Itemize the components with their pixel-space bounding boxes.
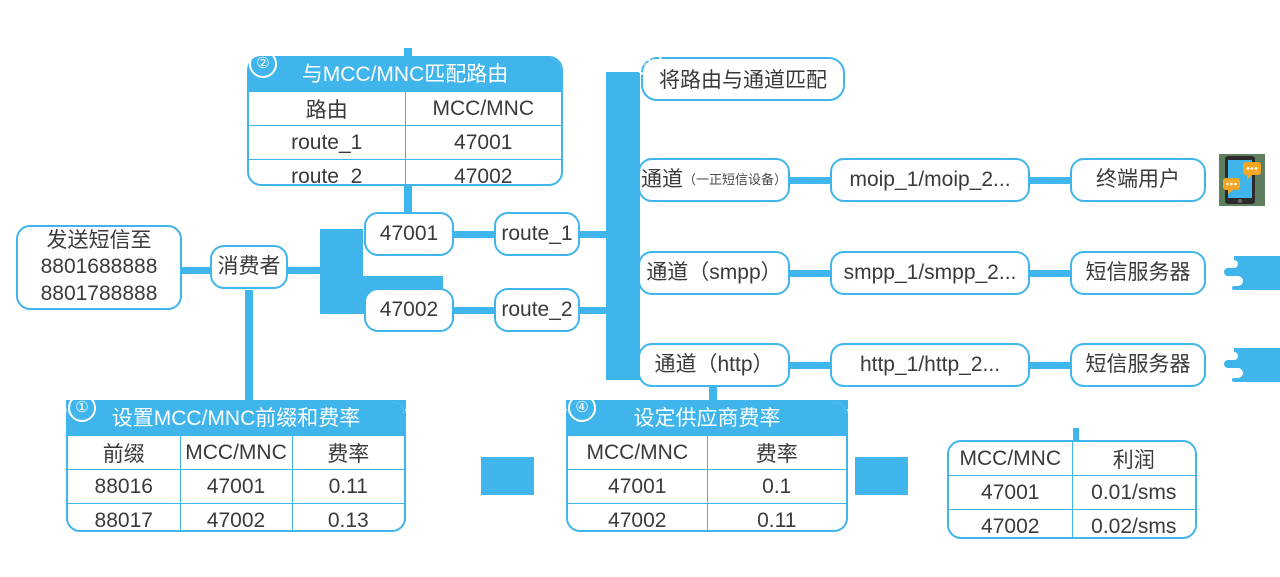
- endpoint-node-3[interactable]: 短信服务器: [1070, 343, 1206, 387]
- source-line-2: 8801688888: [41, 254, 158, 280]
- table-row-header: MCC/MNC 费率: [568, 436, 846, 470]
- source-line-1: 发送短信至: [47, 228, 152, 254]
- connector-47001-route1: [452, 231, 496, 238]
- mcc-node-47002[interactable]: 47002: [364, 288, 454, 332]
- step4-card-title: 设定供应商费率: [568, 402, 846, 436]
- consumer-label: 消费者: [218, 254, 281, 280]
- channel-node-1-label: 通道: [641, 167, 683, 193]
- provider-node-1-label: moip_1/moip_2...: [849, 167, 1010, 193]
- table-row: 88016 47001 0.11: [68, 470, 404, 504]
- endpoint-node-2-label: 短信服务器: [1086, 260, 1191, 286]
- step3-title-callout: 将路由与通道匹配: [641, 57, 845, 101]
- step-number-1: ①: [68, 394, 96, 422]
- channel-node-3-label: 通道（http）: [654, 352, 773, 378]
- route-node-route_2[interactable]: route_2: [494, 288, 580, 332]
- step4-card: 设定供应商费率 MCC/MNC 费率 47001 0.1 47002 0.11: [566, 400, 848, 532]
- table-row: 47001 0.01/sms: [949, 476, 1195, 510]
- source-node[interactable]: 发送短信至 8801688888 8801788888: [16, 225, 182, 310]
- step2-card: 与MCC/MNC匹配路由 路由 MCC/MNC route_1 47001 ro…: [247, 56, 563, 186]
- mcc-node-47002-label: 47002: [380, 297, 438, 323]
- diagram-canvas: 发送短信至 8801688888 8801788888 消费者 47001 47…: [0, 0, 1280, 577]
- step1-r1c2: 0.13: [292, 504, 404, 533]
- step4-header-1: 费率: [707, 436, 846, 470]
- flow-block-left: [481, 457, 534, 495]
- channel-node-2-label: 通道（smpp）: [646, 260, 781, 286]
- step4-r1c1: 0.11: [707, 504, 846, 533]
- step1-header-2: 费率: [292, 436, 404, 470]
- provider-node-2-label: smpp_1/smpp_2...: [844, 260, 1017, 286]
- source-line-3: 8801788888: [41, 281, 158, 307]
- connector-source-consumer: [180, 267, 214, 274]
- step2-r0c0: route_1: [249, 126, 405, 160]
- endpoint-node-1[interactable]: 终端用户: [1070, 158, 1206, 202]
- table-row: 47001 0.1: [568, 470, 846, 504]
- step-number-3: ③: [634, 48, 662, 76]
- channel-node-1-suffix: （一正短信设备）: [683, 172, 787, 188]
- endpoint-node-3-label: 短信服务器: [1086, 352, 1191, 378]
- route-node-route_1-label: route_1: [501, 221, 572, 247]
- channel-node-2[interactable]: 通道（smpp）: [638, 251, 790, 295]
- step2-r0c1: 47001: [405, 126, 561, 160]
- profit-table: MCC/MNC 利润 47001 0.01/sms 47002 0.02/sms: [949, 442, 1195, 539]
- route-node-route_2-label: route_2: [501, 297, 572, 323]
- step2-r1c0: route_2: [249, 160, 405, 187]
- profit-r0c0: 47001: [949, 476, 1072, 510]
- mcc-node-47001-label: 47001: [380, 221, 438, 247]
- step3-vertical-rail: [606, 72, 640, 380]
- step4-r0c1: 0.1: [707, 470, 846, 504]
- table-row: 88017 47002 0.13: [68, 504, 404, 533]
- connector-channel1-provider1: [790, 177, 832, 184]
- table-row-header: 前缀 MCC/MNC 费率: [68, 436, 404, 470]
- endpoint-node-1-label: 终端用户: [1096, 167, 1180, 193]
- phone-chat-icon: [1219, 154, 1265, 206]
- connector-provider3-endpoint3: [1028, 362, 1072, 369]
- step1-r0c1: 47001: [180, 470, 292, 504]
- step3-title: 将路由与通道匹配: [659, 64, 827, 94]
- table-row-header: 路由 MCC/MNC: [249, 92, 561, 126]
- profit-r1c1: 0.02/sms: [1072, 510, 1195, 540]
- step4-header-0: MCC/MNC: [568, 436, 707, 470]
- profit-card: MCC/MNC 利润 47001 0.01/sms 47002 0.02/sms: [947, 440, 1197, 539]
- mcc-node-47001[interactable]: 47001: [364, 212, 454, 256]
- step-number-2: ②: [249, 50, 277, 78]
- step1-r0c2: 0.11: [292, 470, 404, 504]
- table-row: route_2 47002: [249, 160, 561, 187]
- provider-node-1[interactable]: moip_1/moip_2...: [830, 158, 1030, 202]
- step1-r0c0: 88016: [68, 470, 180, 504]
- step2-header-1: MCC/MNC: [405, 92, 561, 126]
- profit-header-1: 利润: [1072, 442, 1195, 476]
- step1-card: 设置MCC/MNC前缀和费率 前缀 MCC/MNC 费率 88016 47001…: [66, 400, 406, 532]
- connector-consumer-step1: [245, 290, 253, 405]
- connector-47002-route2: [452, 307, 496, 314]
- step-number-4: ④: [568, 394, 596, 422]
- step1-header-0: 前缀: [68, 436, 180, 470]
- step1-r1c1: 47002: [180, 504, 292, 533]
- step4-table: MCC/MNC 费率 47001 0.1 47002 0.11: [568, 436, 846, 532]
- table-row: 47002 0.02/sms: [949, 510, 1195, 540]
- profit-header-0: MCC/MNC: [949, 442, 1072, 476]
- connector-provider1-endpoint1: [1028, 177, 1072, 184]
- endpoint-node-2[interactable]: 短信服务器: [1070, 251, 1206, 295]
- flow-block-right: [855, 457, 908, 495]
- consumer-node[interactable]: 消费者: [210, 245, 288, 289]
- step2-table: 路由 MCC/MNC route_1 47001 route_2 47002: [249, 92, 561, 186]
- provider-node-3-label: http_1/http_2...: [860, 352, 1000, 378]
- profit-r1c0: 47002: [949, 510, 1072, 540]
- connector-provider2-endpoint2: [1028, 270, 1072, 277]
- channel-node-3[interactable]: 通道（http）: [638, 343, 790, 387]
- connector-channel2-provider2: [790, 270, 832, 277]
- route-node-route_1[interactable]: route_1: [494, 212, 580, 256]
- connector-channel3-provider3: [790, 362, 832, 369]
- connector-consumer-branch: [286, 267, 322, 274]
- provider-node-3[interactable]: http_1/http_2...: [830, 343, 1030, 387]
- table-row: 47002 0.11: [568, 504, 846, 533]
- step1-card-title: 设置MCC/MNC前缀和费率: [68, 402, 404, 436]
- step4-r1c0: 47002: [568, 504, 707, 533]
- step2-header-0: 路由: [249, 92, 405, 126]
- channel-node-1[interactable]: 通道 （一正短信设备）: [638, 158, 790, 202]
- server-icon-3: [1220, 342, 1280, 393]
- profit-r0c1: 0.01/sms: [1072, 476, 1195, 510]
- table-row-header: MCC/MNC 利润: [949, 442, 1195, 476]
- step4-r0c0: 47001: [568, 470, 707, 504]
- server-icon-2: [1220, 250, 1280, 301]
- step1-r1c0: 88017: [68, 504, 180, 533]
- step1-header-1: MCC/MNC: [180, 436, 292, 470]
- provider-node-2[interactable]: smpp_1/smpp_2...: [830, 251, 1030, 295]
- table-row: route_1 47001: [249, 126, 561, 160]
- step1-table: 前缀 MCC/MNC 费率 88016 47001 0.11 88017 470…: [68, 436, 404, 532]
- step2-r1c1: 47002: [405, 160, 561, 187]
- step2-card-title: 与MCC/MNC匹配路由: [249, 58, 561, 92]
